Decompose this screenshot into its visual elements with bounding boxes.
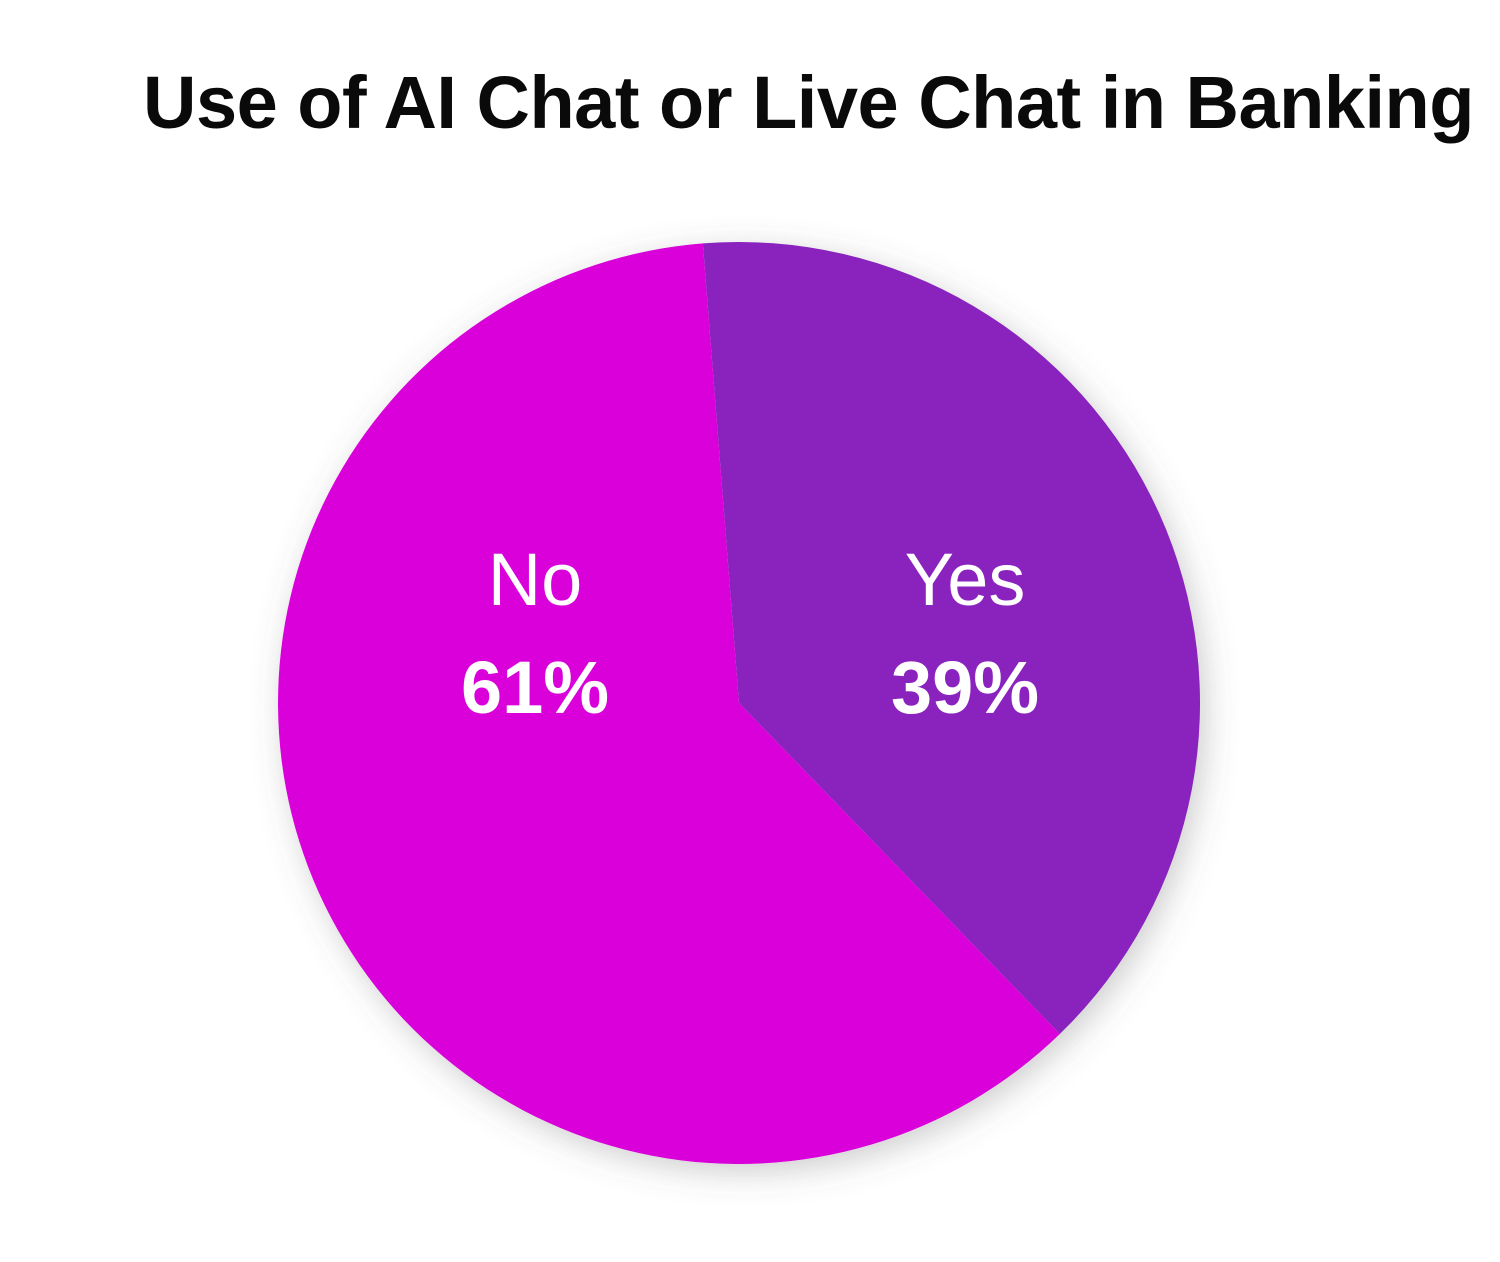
chart-canvas: Use of AI Chat or Live Chat in Banking N… — [0, 0, 1500, 1262]
pie-slices-group — [278, 242, 1200, 1164]
pie-chart-figure: No 61% Yes 39% — [0, 0, 1500, 1262]
pie-chart-svg — [0, 0, 1500, 1262]
